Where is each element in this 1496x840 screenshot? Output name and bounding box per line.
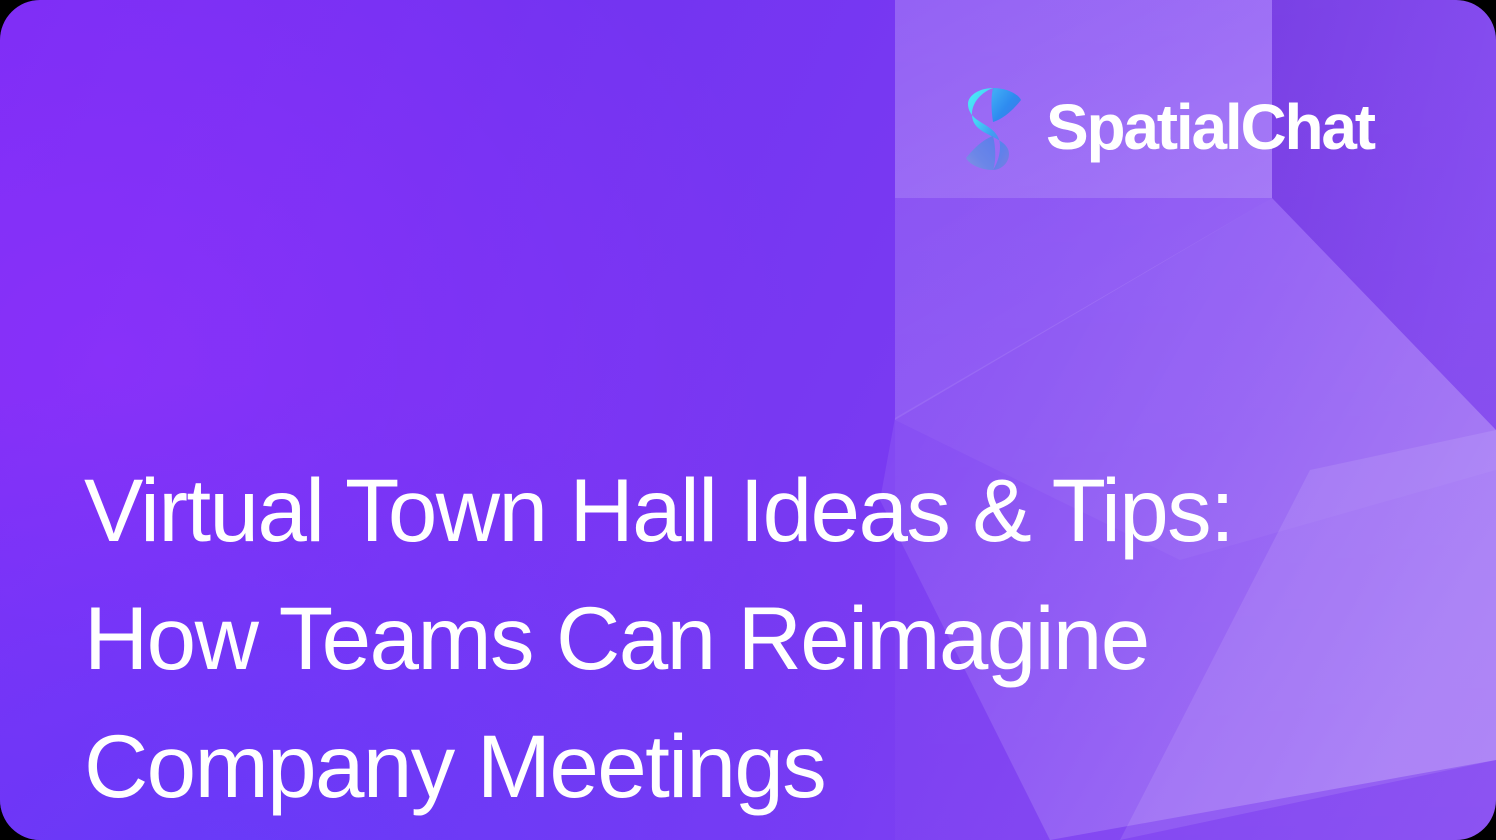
- headline-line-3: Company Meetings: [84, 702, 1414, 830]
- spatialchat-s-logo-icon: [962, 84, 1024, 174]
- brand-logo-lockup[interactable]: SpatialChat: [962, 84, 1374, 174]
- cover-canvas: SpatialChat Virtual Town Hall Ideas & Ti…: [0, 0, 1496, 840]
- headline-line-1: Virtual Town Hall Ideas & Tips:: [84, 446, 1414, 574]
- brand-wordmark: SpatialChat: [1046, 95, 1374, 159]
- blog-cover-card: SpatialChat Virtual Town Hall Ideas & Ti…: [0, 0, 1496, 840]
- cover-headline: Virtual Town Hall Ideas & Tips: How Team…: [84, 446, 1414, 830]
- headline-line-2: How Teams Can Reimagine: [84, 574, 1414, 702]
